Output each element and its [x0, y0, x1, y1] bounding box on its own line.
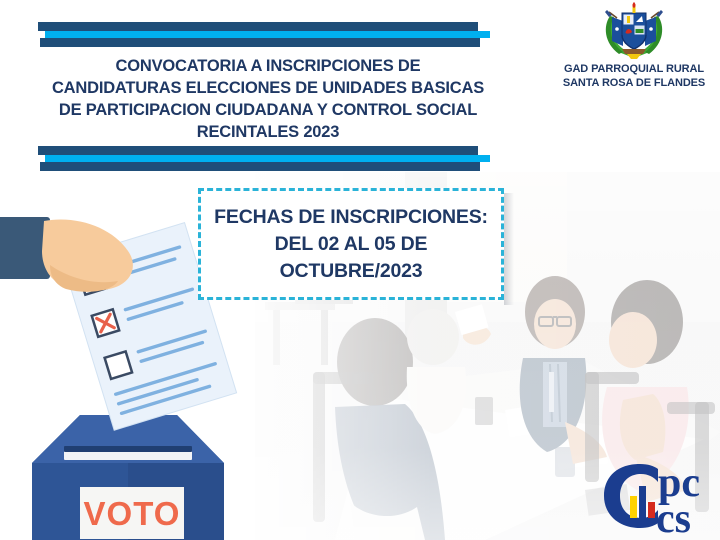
cpccs-text-cs: cs [656, 496, 691, 536]
ballot-box-label: VOTO [84, 495, 181, 532]
decor-bar-top-layer-cyan [45, 31, 490, 38]
decor-bar-bottom-layer-dark-upper [38, 146, 478, 155]
cpccs-bar-red [648, 502, 655, 518]
cpccs-logo: pc cs [600, 452, 712, 536]
decor-bar-top-layer-dark-upper [38, 22, 478, 31]
decor-bar-bottom-layer-dark-lower [40, 162, 480, 171]
institution-block: GAD PARROQUIAL RURAL SANTA ROSA DE FLAND… [548, 2, 720, 90]
checkbox-empty-icon-2 [105, 351, 132, 378]
decor-bar-top [38, 22, 498, 48]
date-callout-text: FECHAS DE INSCRIPCIONES: DEL 02 AL 05 DE… [214, 204, 488, 285]
decor-bar-bottom-layer-cyan [45, 155, 490, 162]
cpccs-bar-blue [639, 486, 646, 518]
date-callout-line-3: OCTUBRE/2023 [214, 258, 488, 285]
institution-name-line-2: SANTA ROSA DE FLANDES [548, 76, 720, 90]
institution-name-line-1: GAD PARROQUIAL RURAL [548, 62, 720, 76]
page-title-line-3: DE PARTICIPACION CIUDADANA Y CONTROL SOC… [18, 99, 518, 121]
poster-canvas: CONVOCATORIA A INSCRIPCIONES DE CANDIDAT… [0, 0, 720, 540]
date-callout-line-2: DEL 02 AL 05 DE [214, 231, 488, 258]
decor-bar-top-layer-dark-lower [40, 38, 480, 47]
date-callout-line-1: FECHAS DE INSCRIPCIONES: [214, 204, 488, 231]
date-callout-box: FECHAS DE INSCRIPCIONES: DEL 02 AL 05 DE… [198, 188, 504, 300]
date-callout-shadow [504, 193, 514, 305]
page-title-line-2: CANDIDATURAS ELECCIONES DE UNIDADES BASI… [18, 77, 518, 99]
institution-name: GAD PARROQUIAL RURAL SANTA ROSA DE FLAND… [548, 62, 720, 90]
decor-bar-bottom [38, 146, 498, 172]
coat-of-arms-icon [601, 2, 667, 60]
page-title-line-1: CONVOCATORIA A INSCRIPCIONES DE [18, 55, 518, 77]
cpccs-bar-yellow [630, 496, 637, 518]
page-title-line-4: RECINTALES 2023 [18, 121, 518, 143]
ballot-box-icon: VOTO [32, 415, 224, 540]
hand-icon [0, 217, 133, 292]
page-title: CONVOCATORIA A INSCRIPCIONES DE CANDIDAT… [18, 55, 518, 143]
